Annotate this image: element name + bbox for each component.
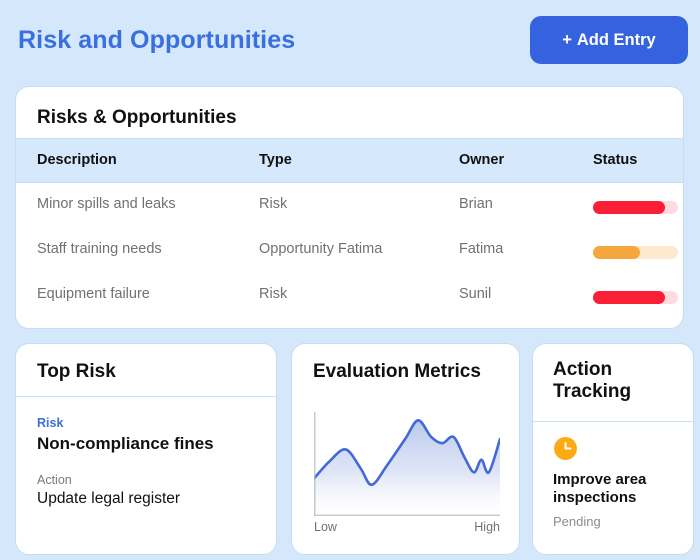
clock-icon: [553, 436, 578, 461]
action-tracking-header: Action Tracking: [533, 344, 693, 422]
column-header-type[interactable]: Type: [259, 152, 292, 168]
status-bar: [593, 201, 678, 214]
risks-opportunities-card: Risks & Opportunities Description Type O…: [15, 86, 684, 329]
status-bar-fill: [593, 201, 665, 214]
table-row[interactable]: Equipment failure Risk Sunil: [16, 273, 683, 318]
cell-owner: Brian: [459, 196, 493, 212]
top-risk-risk-value: Non-compliance fines: [37, 434, 276, 454]
add-entry-label: Add Entry: [577, 31, 656, 50]
table-body: Minor spills and leaks Risk Brian Staff …: [16, 183, 683, 318]
action-tracking-title: Action Tracking: [553, 359, 693, 404]
status-bar: [593, 246, 678, 259]
cell-owner: Sunil: [459, 286, 491, 302]
table-header-row: Description Type Owner Status: [16, 138, 683, 183]
cell-description: Staff training needs: [37, 241, 162, 257]
evaluation-area-chart[interactable]: [314, 412, 500, 516]
cell-owner: Fatima: [459, 241, 503, 257]
cell-type: Risk: [259, 286, 287, 302]
cell-type: Opportunity Fatima: [259, 241, 382, 257]
status-bar: [593, 291, 678, 304]
table-title: Risks & Opportunities: [37, 107, 237, 129]
top-risk-header: Top Risk: [16, 344, 276, 397]
column-header-status[interactable]: Status: [593, 152, 637, 168]
action-item-status: Pending: [553, 514, 693, 529]
top-risk-title: Top Risk: [37, 361, 276, 383]
action-tracking-card: Action Tracking Improve area inspections…: [532, 343, 694, 555]
column-header-description[interactable]: Description: [37, 152, 117, 168]
evaluation-metrics-card: Evaluation Metrics Low High: [291, 343, 520, 555]
plus-icon: +: [562, 31, 572, 50]
page-header: Risk and Opportunities + Add Entry: [0, 0, 700, 80]
page-title: Risk and Opportunities: [18, 26, 295, 55]
top-risk-card: Top Risk Risk Non-compliance fines Actio…: [15, 343, 277, 555]
table-row[interactable]: Staff training needs Opportunity Fatima …: [16, 228, 683, 273]
evaluation-chart-svg: [314, 412, 500, 516]
evaluation-metrics-title: Evaluation Metrics: [313, 361, 519, 383]
cell-description: Equipment failure: [37, 286, 150, 302]
top-risk-risk-label: Risk: [37, 416, 276, 430]
column-header-owner[interactable]: Owner: [459, 152, 504, 168]
cell-description: Minor spills and leaks: [37, 196, 176, 212]
add-entry-button[interactable]: + Add Entry: [530, 16, 688, 64]
top-risk-action-label: Action: [37, 473, 276, 487]
status-bar-fill: [593, 246, 640, 259]
status-bar-fill: [593, 291, 665, 304]
chart-axis-low-label: Low: [314, 520, 337, 534]
action-item-title: Improve area inspections: [553, 471, 673, 507]
top-risk-action-value: Update legal register: [37, 490, 276, 508]
chart-axis-high-label: High: [474, 520, 500, 534]
table-row[interactable]: Minor spills and leaks Risk Brian: [16, 183, 683, 228]
chart-axis-labels: Low High: [314, 520, 500, 534]
cell-type: Risk: [259, 196, 287, 212]
